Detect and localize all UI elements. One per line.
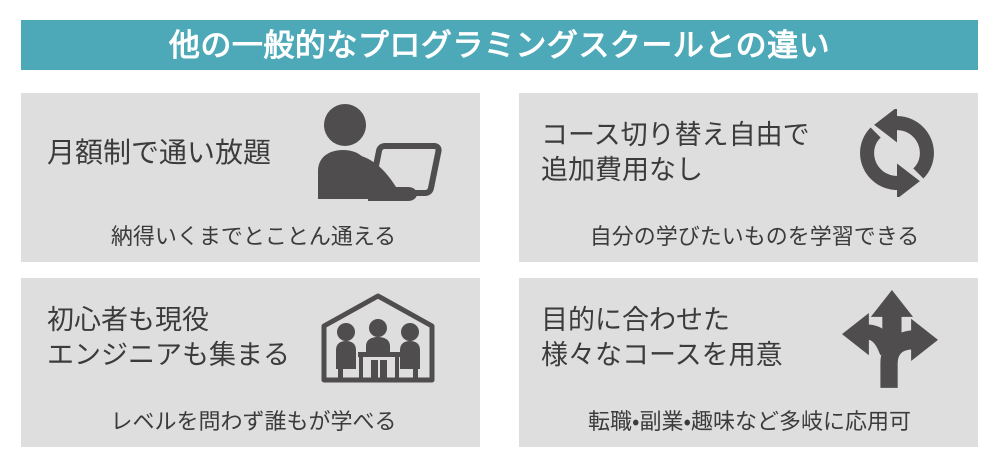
card-top-row: 初心者も現役 エンジニアも集まる <box>21 278 480 398</box>
feature-card-monthly-unlimited: 月額制で通い放題 <box>21 93 480 262</box>
card-subtext: 転職・副業・趣味など多岐に応用可 <box>519 409 964 435</box>
card-subtext: 納得いくまでとことん通える <box>21 224 466 250</box>
infographic-page: 他の一般的なプログラミングスクールとの違い 月額制で通い放題 <box>0 0 1000 475</box>
feature-card-free-course-switching: コース切り替え自由で 追加費用なし 自分の学びたいものを学習できる <box>519 93 978 262</box>
feature-card-beginners-and-engineers: 初心者も現役 エンジニアも集まる <box>21 278 480 447</box>
cycle-arrows-icon <box>842 103 952 203</box>
card-heading: 初心者も現役 エンジニアも集まる <box>47 303 290 372</box>
header-banner: 他の一般的なプログラミングスクールとの違い <box>21 20 978 70</box>
page-title: 他の一般的なプログラミングスクールとの違い <box>169 30 830 61</box>
card-top-row: 月額制で通い放題 <box>21 93 480 213</box>
feature-card-courses-for-goals: 目的に合わせた 様々なコースを用意 転職・副業・趣味など多岐に <box>519 278 978 447</box>
card-top-row: 目的に合わせた 様々なコースを用意 <box>519 278 978 398</box>
card-subtext: レベルを問わず誰もが学べる <box>21 409 466 435</box>
three-way-arrows-icon <box>830 288 950 388</box>
card-heading: コース切り替え自由で 追加費用なし <box>541 118 810 187</box>
feature-card-grid: 月額制で通い放題 <box>21 93 978 447</box>
card-heading: 目的に合わせた 様々なコースを用意 <box>541 303 783 372</box>
card-top-row: コース切り替え自由で 追加費用なし <box>519 93 978 213</box>
card-subtext: 自分の学びたいものを学習できる <box>519 224 964 250</box>
card-heading: 月額制で通い放題 <box>47 135 271 171</box>
person-at-laptop-icon <box>308 103 448 203</box>
people-meeting-house-icon <box>308 288 448 388</box>
